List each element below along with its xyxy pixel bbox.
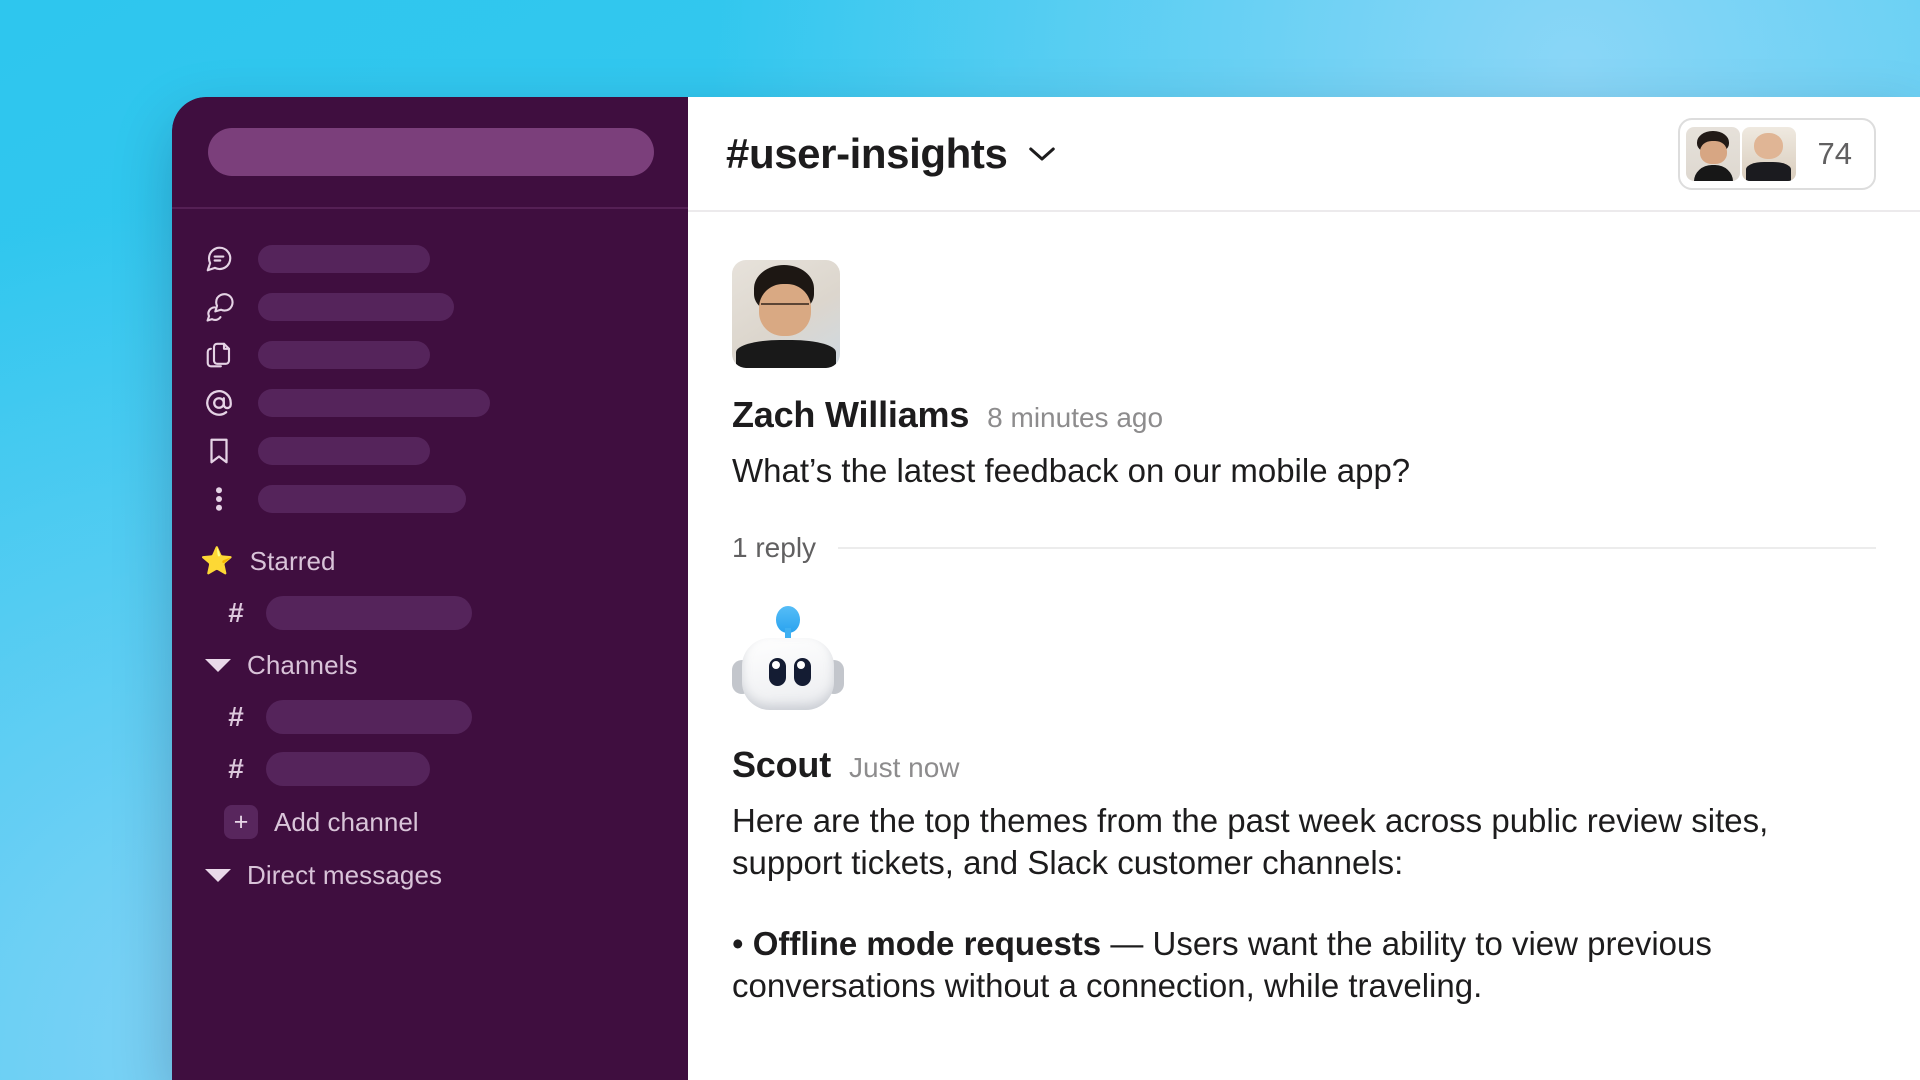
message-meta: Zach Williams 8 minutes ago [732, 394, 1876, 436]
main-pane: #user-insights 74 [688, 97, 1920, 1080]
message-item: Zach Williams 8 minutes ago What’s the l… [732, 260, 1876, 492]
section-label-starred: Starred [250, 546, 336, 577]
member-avatar-1 [1686, 127, 1740, 181]
zach-williams-avatar[interactable] [732, 260, 840, 368]
bullet-title: Offline mode requests [753, 925, 1101, 962]
section-label-direct-messages: Direct messages [247, 860, 442, 891]
message-timestamp: 8 minutes ago [987, 402, 1163, 434]
add-channel-button[interactable]: + Add channel [172, 795, 688, 849]
triangle-down-icon [205, 659, 231, 672]
sidebar-item-label [258, 245, 430, 273]
add-channel-label: Add channel [274, 807, 419, 838]
bot-message-item: Scout Just now Here are the top themes f… [732, 606, 1876, 1007]
search-input[interactable] [208, 128, 654, 176]
sidebar-item-more[interactable] [172, 475, 688, 523]
hash-icon: # [224, 597, 248, 629]
bot-bullet-item: • Offline mode requests — Users want the… [732, 923, 1822, 1007]
page-title[interactable]: #user-insights [726, 130, 1007, 178]
sidebar: ⭐ Starred # Channels # # + Add channel D… [172, 97, 688, 1080]
files-icon [202, 338, 236, 372]
threads-icon [202, 242, 236, 276]
bot-intro-text: Here are the top themes from the past we… [732, 800, 1812, 884]
message-text: What’s the latest feedback on our mobile… [732, 450, 1812, 492]
bullet-dash: — [1110, 925, 1143, 962]
avatar-glasses [761, 303, 809, 313]
sidebar-item-dms[interactable] [172, 283, 688, 331]
sidebar-item-label [258, 293, 454, 321]
bot-author[interactable]: Scout [732, 744, 831, 786]
star-icon: ⭐ [200, 548, 234, 575]
robot-head-icon [742, 638, 834, 710]
member-count: 74 [1818, 136, 1852, 172]
sidebar-item-label [258, 485, 466, 513]
mentions-icon [202, 386, 236, 420]
section-label-channels: Channels [247, 650, 358, 681]
avatar-shirt [736, 340, 835, 368]
direct-messages-icon [202, 290, 236, 324]
slack-app-window: ⭐ Starred # Channels # # + Add channel D… [172, 97, 1920, 1080]
sidebar-item-label [258, 389, 490, 417]
sidebar-search-area [172, 97, 688, 207]
sidebar-item-saved[interactable] [172, 427, 688, 475]
channel-header: #user-insights 74 [688, 97, 1920, 212]
bot-timestamp: Just now [849, 752, 960, 784]
sidebar-item-label [258, 341, 430, 369]
hash-icon: # [224, 701, 248, 733]
sidebar-section-direct-messages[interactable]: Direct messages [172, 849, 688, 901]
sidebar-item-threads[interactable] [172, 235, 688, 283]
reply-count-label[interactable]: 1 reply [732, 532, 816, 564]
bookmark-icon [202, 434, 236, 468]
message-author[interactable]: Zach Williams [732, 394, 969, 436]
member-avatar-2 [1742, 127, 1796, 181]
plus-icon: + [224, 805, 258, 839]
sidebar-section-starred[interactable]: ⭐ Starred [172, 535, 688, 587]
triangle-down-icon [205, 869, 231, 882]
robot-eye-right-icon [794, 658, 811, 686]
message-list: Zach Williams 8 minutes ago What’s the l… [688, 212, 1920, 1080]
thread-reply-divider[interactable]: 1 reply [732, 532, 1876, 564]
sidebar-channel-item[interactable]: # [172, 587, 688, 639]
sidebar-channel-item[interactable]: # [172, 691, 688, 743]
sidebar-item-mentions[interactable] [172, 379, 688, 427]
more-icon [202, 482, 236, 516]
sidebar-channel-item[interactable]: # [172, 743, 688, 795]
channel-name-redacted [266, 700, 472, 734]
sidebar-nav-list [172, 209, 688, 535]
members-button[interactable]: 74 [1678, 118, 1876, 190]
sidebar-item-label [258, 437, 430, 465]
bullet-marker: • [732, 925, 744, 962]
robot-eye-left-icon [769, 658, 786, 686]
member-avatar-stack [1686, 127, 1796, 181]
bot-message-meta: Scout Just now [732, 744, 1876, 786]
divider-line [838, 547, 1876, 549]
sidebar-item-files[interactable] [172, 331, 688, 379]
scout-bot-avatar[interactable] [732, 606, 844, 718]
channel-name-redacted [266, 752, 430, 786]
chevron-down-icon[interactable] [1027, 144, 1057, 164]
sidebar-section-channels[interactable]: Channels [172, 639, 688, 691]
channel-name-redacted [266, 596, 472, 630]
hash-icon: # [224, 753, 248, 785]
